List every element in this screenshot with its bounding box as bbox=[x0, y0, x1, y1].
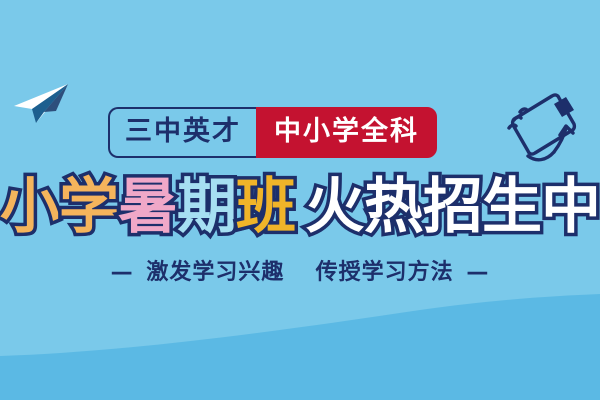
headline-char: 期 bbox=[177, 171, 236, 243]
subtitle-right-dash: — bbox=[462, 260, 493, 285]
headline-char: 小 bbox=[0, 171, 59, 243]
headline-char: 火 bbox=[305, 171, 364, 243]
paper-plane-icon bbox=[12, 82, 72, 126]
background-wave bbox=[0, 270, 600, 400]
headline-char: 班 bbox=[236, 171, 295, 243]
headline-char: 招 bbox=[423, 171, 482, 243]
badge-category-label: 中小学全科 bbox=[274, 118, 419, 145]
headline-char: 学 bbox=[59, 171, 118, 243]
headline-char: 热 bbox=[364, 171, 423, 243]
subtitle-left-dash: — bbox=[107, 260, 138, 285]
promo-banner: 三中英才 中小学全科 小学暑期班火热招生中 — 激发学习兴趣 传授学习方法 — bbox=[0, 0, 600, 400]
headline-char: 中 bbox=[541, 171, 600, 243]
subtitle-phrase-one: 激发学习兴趣 bbox=[146, 260, 284, 285]
badge-category-block: 中小学全科 bbox=[256, 107, 437, 158]
headline-char: 生 bbox=[482, 171, 541, 243]
headline-char: 暑 bbox=[118, 171, 177, 243]
notebook-arrow-icon bbox=[498, 88, 590, 182]
subtitle: — 激发学习兴趣 传授学习方法 — bbox=[0, 254, 600, 286]
brand-badge: 三中英才 中小学全科 bbox=[108, 107, 437, 158]
headline: 小学暑期班火热招生中 bbox=[0, 171, 600, 243]
subtitle-phrase-two: 传授学习方法 bbox=[316, 260, 454, 285]
badge-brand-block: 三中英才 bbox=[108, 107, 256, 158]
badge-brand-label: 三中英才 bbox=[125, 118, 241, 145]
